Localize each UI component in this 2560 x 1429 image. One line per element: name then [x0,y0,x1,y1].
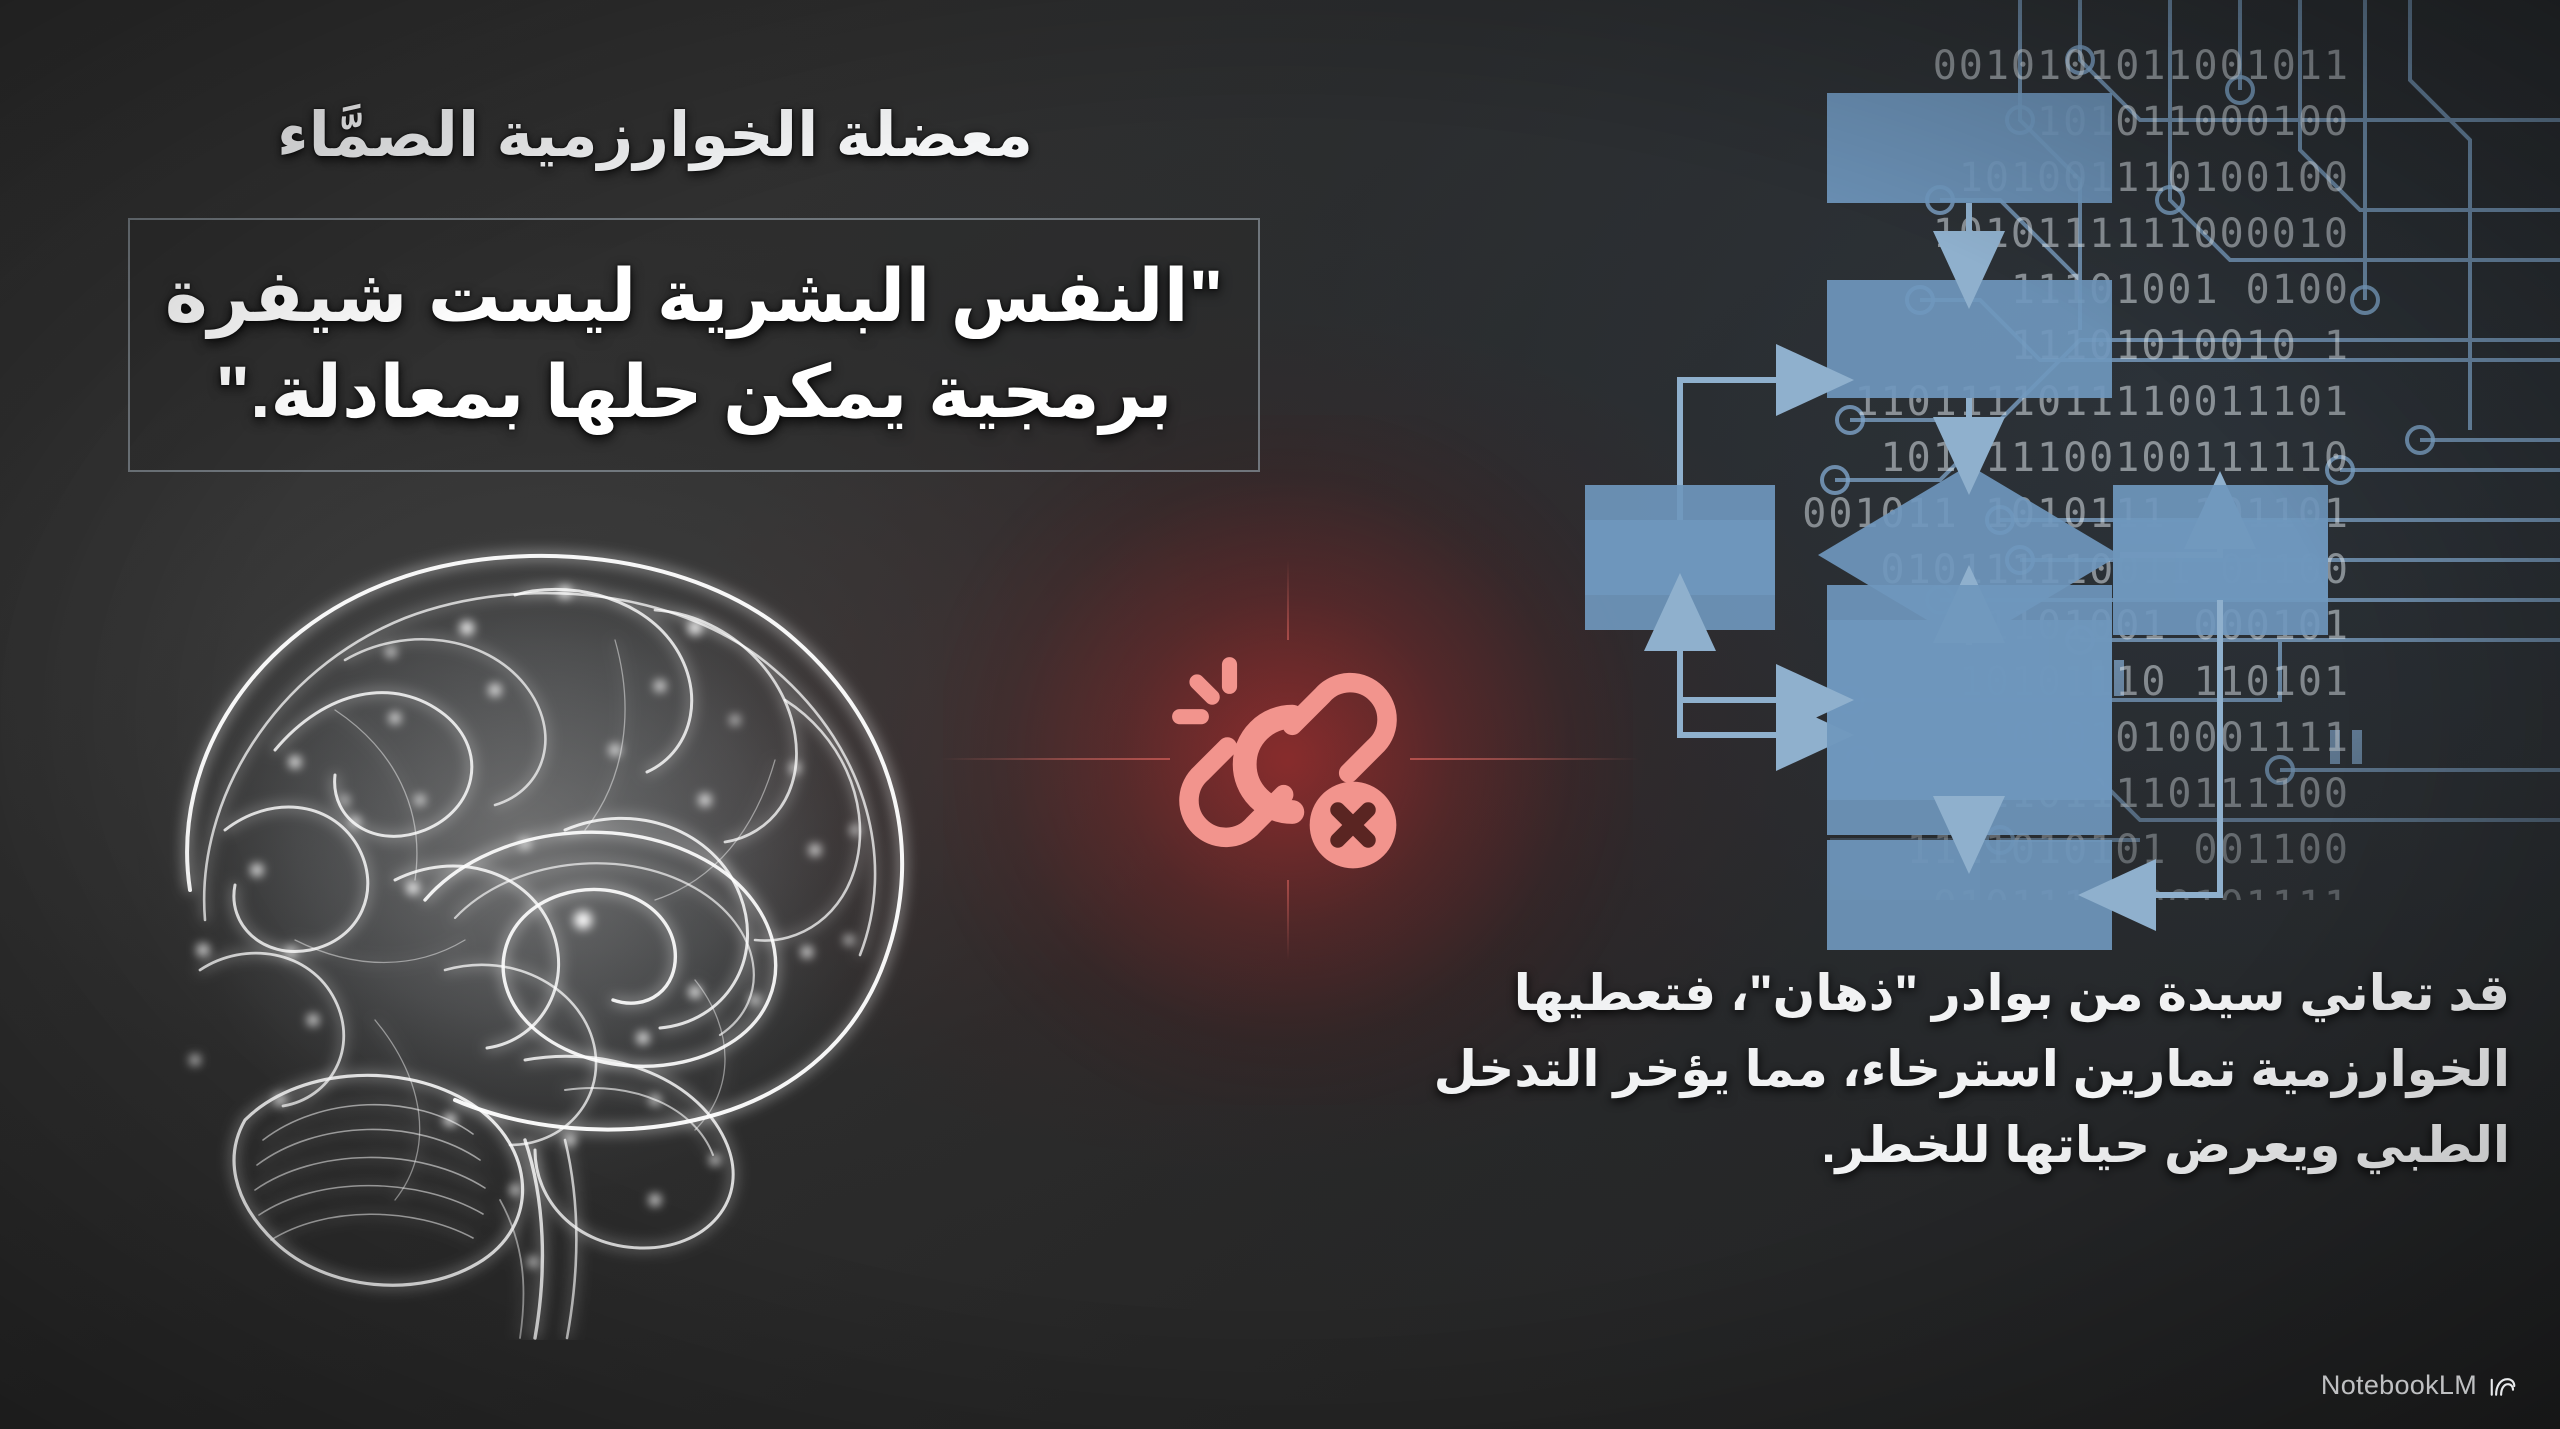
wireframe-brain-icon [95,500,975,1340]
body-paragraph: قد تعاني سيدة من بوادر "ذهان"، فتعطيها ا… [1390,955,2510,1183]
brain-illustration [95,500,975,1340]
notebooklm-logo-icon [2488,1371,2518,1401]
page-title: معضلة الخوارزمية الصمَّاء [0,98,1310,171]
notebooklm-watermark: NotebookLM [2321,1370,2518,1401]
quote-callout-box: "النفس البشرية ليست شيفرة برمجية يمكن حل… [128,218,1260,472]
flowchart-lower-connectors [1540,450,2440,950]
broken-link-hub [1158,630,1418,890]
slide-canvas: 0010101011001011 101011000100 1010011101… [0,0,2560,1429]
broken-link-error-icon [1158,630,1418,890]
watermark-label: NotebookLM [2321,1370,2477,1401]
quote-text: "النفس البشرية ليست شيفرة برمجية يمكن حل… [130,249,1258,442]
